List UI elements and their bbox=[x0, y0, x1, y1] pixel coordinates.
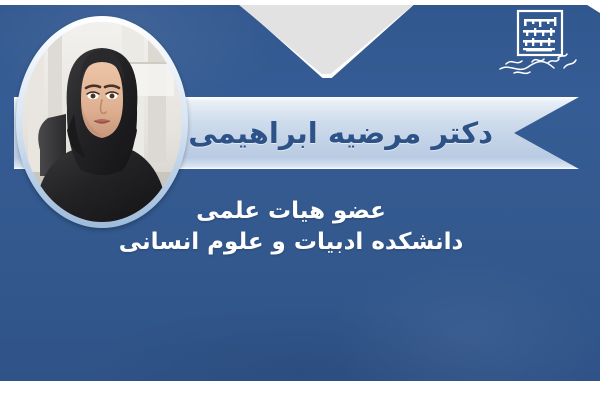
bottom-white-band bbox=[0, 381, 600, 400]
university-logo bbox=[492, 6, 584, 82]
faculty-name: دکتر مرضیه ابراهیمی bbox=[188, 97, 493, 169]
logo-calligraphy-icon bbox=[523, 17, 556, 51]
subtitle-line-faculty: دانشکده ادبیات و علوم انسانی bbox=[0, 227, 582, 258]
avatar-photo bbox=[22, 22, 182, 222]
top-white-edge bbox=[0, 0, 600, 5]
faculty-profile-card: دکتر مرضیه ابراهیمی bbox=[0, 0, 600, 400]
logo-script-icon bbox=[500, 54, 576, 73]
avatar bbox=[16, 16, 188, 228]
